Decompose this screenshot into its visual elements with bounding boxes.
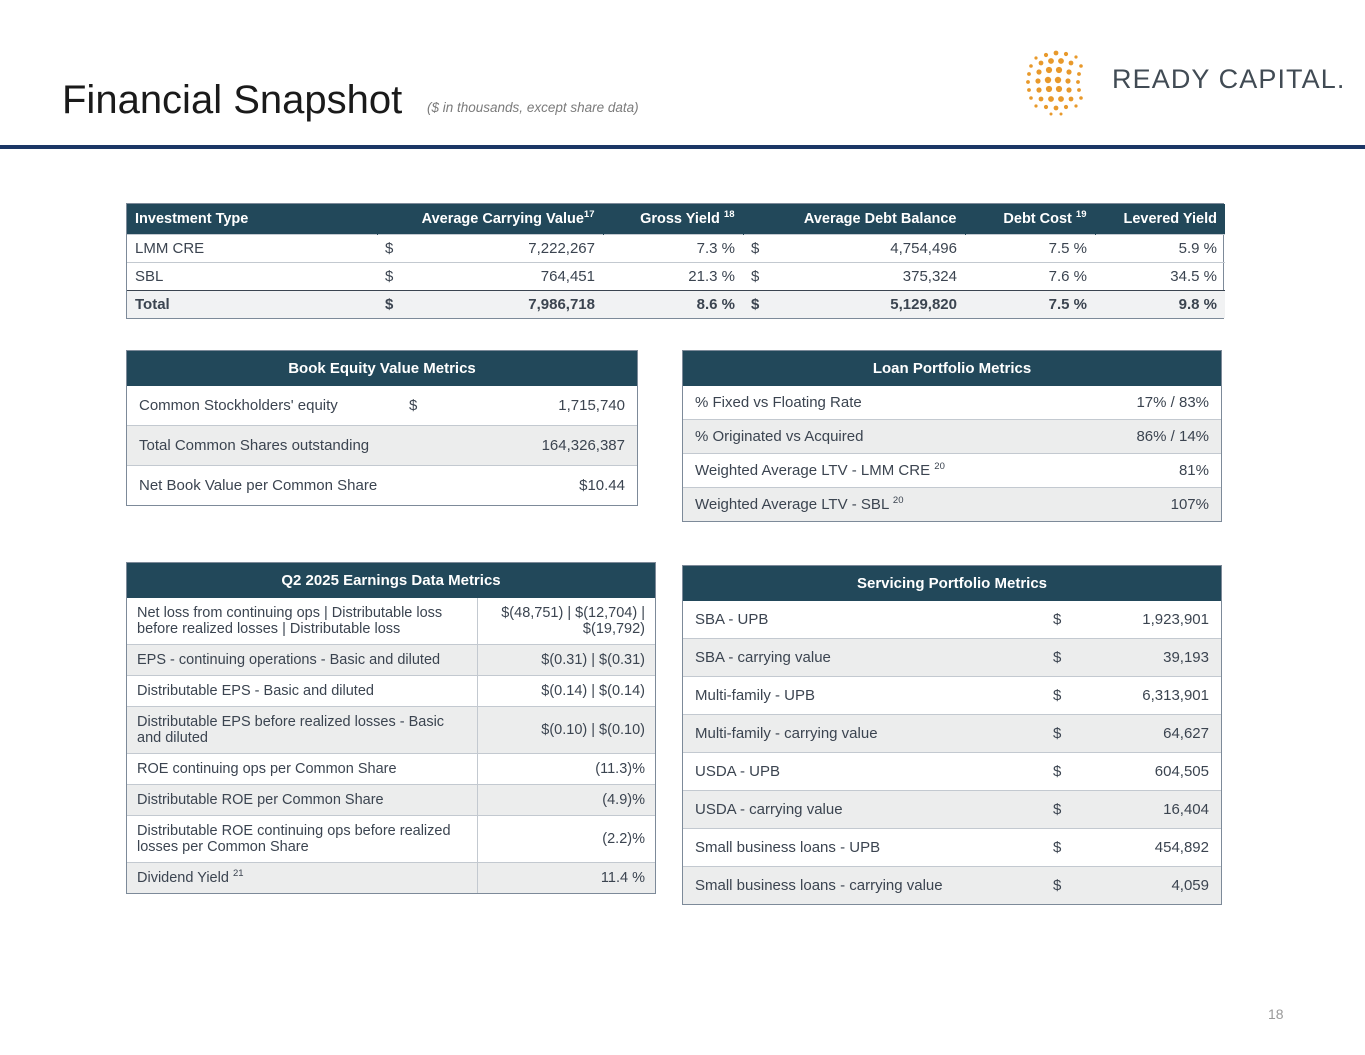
table-row: Multi-family - UPB $ 6,313,901 [683, 677, 1221, 715]
row-currency: $ [1041, 639, 1081, 677]
cell-levered-yield: 5.9 % [1095, 235, 1225, 263]
cell-average-debt-balance: 4,754,496 [769, 235, 965, 263]
cell-average-carrying-value: 7,222,267 [403, 235, 603, 263]
column-header-levered-yield: Levered Yield [1095, 204, 1225, 235]
table-row: Small business loans - carrying value $ … [683, 867, 1221, 905]
column-header-investment-type: Investment Type [127, 204, 377, 235]
table-row: Weighted Average LTV - LMM CRE 20 81% [683, 454, 1221, 488]
row-value: (2.2)% [477, 816, 655, 863]
row-label: Dividend Yield 21 [127, 863, 477, 894]
row-label: Multi-family - carrying value [683, 715, 1041, 753]
servicing-title: Servicing Portfolio Metrics [683, 566, 1221, 601]
table-row: Multi-family - carrying value $ 64,627 [683, 715, 1221, 753]
row-currency: $ [1041, 867, 1081, 905]
table-header-row: Investment Type Average Carrying Value17… [127, 204, 1225, 235]
row-value: 11.4 % [477, 863, 655, 894]
row-label: USDA - UPB [683, 753, 1041, 791]
row-value: 6,313,901 [1081, 677, 1221, 715]
row-label: % Originated vs Acquired [683, 420, 1071, 454]
row-label: Multi-family - UPB [683, 677, 1041, 715]
row-value: $10.44 [437, 466, 637, 506]
loan-portfolio-title: Loan Portfolio Metrics [683, 351, 1221, 386]
row-value: $(0.14) | $(0.14) [477, 676, 655, 707]
header-divider-rule [0, 145, 1365, 149]
row-value: $(48,751) | $(12,704) | $(19,792) [477, 598, 655, 645]
table-row: LMM CRE $ 7,222,267 7.3 % $ 4,754,496 7.… [127, 235, 1225, 263]
footnote-marker-17: 17 [584, 209, 595, 220]
table-row: Dividend Yield 21 11.4 % [127, 863, 655, 894]
row-label: Distributable ROE per Common Share [127, 785, 477, 816]
row-label: ROE continuing ops per Common Share [127, 754, 477, 785]
table-row: Distributable ROE continuing ops before … [127, 816, 655, 863]
column-header-gross-yield: Gross Yield 18 [603, 204, 743, 235]
cell-debt-cost: 7.6 % [965, 263, 1095, 291]
row-currency: $ [1041, 829, 1081, 867]
table-row: % Fixed vs Floating Rate 17% / 83% [683, 386, 1221, 420]
row-currency: $ [1041, 753, 1081, 791]
row-value: 1,715,740 [437, 386, 637, 426]
column-header-average-debt-balance: Average Debt Balance [743, 204, 965, 235]
table-row: Small business loans - UPB $ 454,892 [683, 829, 1221, 867]
table-row: EPS - continuing operations - Basic and … [127, 645, 655, 676]
book-equity-value-metrics-table: Book Equity Value Metrics Common Stockho… [126, 350, 638, 506]
row-value: 16,404 [1081, 791, 1221, 829]
cell-adb-currency: $ [743, 235, 769, 263]
cell-levered-yield: 34.5 % [1095, 263, 1225, 291]
row-currency [397, 466, 437, 506]
table-row: Distributable EPS before realized losses… [127, 707, 655, 754]
table-row: Distributable ROE per Common Share (4.9)… [127, 785, 655, 816]
row-label: Weighted Average LTV - LMM CRE 20 [683, 454, 1071, 488]
footnote-marker-20: 20 [893, 495, 904, 506]
row-currency: $ [1041, 715, 1081, 753]
row-label: Net Book Value per Common Share [127, 466, 397, 506]
row-value: 86% / 14% [1071, 420, 1221, 454]
table-row: USDA - carrying value $ 16,404 [683, 791, 1221, 829]
row-currency: $ [1041, 601, 1081, 639]
row-value: 39,193 [1081, 639, 1221, 677]
table-row: ROE continuing ops per Common Share (11.… [127, 754, 655, 785]
cell-investment-type: Total [127, 291, 377, 319]
row-value: 64,627 [1081, 715, 1221, 753]
table-row: Distributable EPS - Basic and diluted $(… [127, 676, 655, 707]
row-value: $(0.31) | $(0.31) [477, 645, 655, 676]
cell-average-carrying-value: 7,986,718 [403, 291, 603, 319]
row-label: SBA - carrying value [683, 639, 1041, 677]
table-row: % Originated vs Acquired 86% / 14% [683, 420, 1221, 454]
row-label: Distributable ROE continuing ops before … [127, 816, 477, 863]
cell-gross-yield: 7.3 % [603, 235, 743, 263]
row-currency: $ [397, 386, 437, 426]
row-label: Distributable EPS - Basic and diluted [127, 676, 477, 707]
row-label: USDA - carrying value [683, 791, 1041, 829]
cell-average-debt-balance: 375,324 [769, 263, 965, 291]
row-value: (11.3)% [477, 754, 655, 785]
row-value: 164,326,387 [437, 426, 637, 466]
loan-portfolio-metrics-table: Loan Portfolio Metrics % Fixed vs Floati… [682, 350, 1222, 522]
footnote-marker-19: 19 [1076, 209, 1087, 220]
row-label: Small business loans - carrying value [683, 867, 1041, 905]
cell-average-carrying-value: 764,451 [403, 263, 603, 291]
footnote-marker-18: 18 [724, 209, 735, 220]
cell-gross-yield: 8.6 % [603, 291, 743, 319]
table-row: Net loss from continuing ops | Distribut… [127, 598, 655, 645]
row-label: Common Stockholders' equity [127, 386, 397, 426]
table-row: USDA - UPB $ 604,505 [683, 753, 1221, 791]
brand-logo: READY CAPITAL. [1016, 46, 1316, 118]
footnote-marker-20: 20 [934, 461, 945, 472]
row-label: SBA - UPB [683, 601, 1041, 639]
row-value: 81% [1071, 454, 1221, 488]
book-equity-title: Book Equity Value Metrics [127, 351, 637, 386]
cell-acv-currency: $ [377, 291, 403, 319]
table-row: Total Common Shares outstanding 164,326,… [127, 426, 637, 466]
table-row: Common Stockholders' equity $ 1,715,740 [127, 386, 637, 426]
cell-investment-type: LMM CRE [127, 235, 377, 263]
row-value: 107% [1071, 488, 1221, 522]
cell-debt-cost: 7.5 % [965, 235, 1095, 263]
page-title: Financial Snapshot [62, 78, 402, 122]
footnote-marker-21: 21 [233, 868, 244, 879]
investment-type-table: Investment Type Average Carrying Value17… [126, 203, 1224, 319]
page-title-note: ($ in thousands, except share data) [427, 100, 639, 115]
cell-gross-yield: 21.3 % [603, 263, 743, 291]
row-value: 17% / 83% [1071, 386, 1221, 420]
table-row: Weighted Average LTV - SBL 20 107% [683, 488, 1221, 522]
ready-capital-dot-mark-icon [1016, 46, 1106, 118]
cell-investment-type: SBL [127, 263, 377, 291]
row-currency [397, 426, 437, 466]
row-value: (4.9)% [477, 785, 655, 816]
row-value: 4,059 [1081, 867, 1221, 905]
cell-average-debt-balance: 5,129,820 [769, 291, 965, 319]
row-label: EPS - continuing operations - Basic and … [127, 645, 477, 676]
column-header-debt-cost: Debt Cost 19 [965, 204, 1095, 235]
earnings-data-metrics-table: Q2 2025 Earnings Data Metrics Net loss f… [126, 562, 656, 894]
row-currency: $ [1041, 677, 1081, 715]
cell-levered-yield: 9.8 % [1095, 291, 1225, 319]
brand-wordmark: READY CAPITAL. [1112, 64, 1345, 95]
table-row: SBA - carrying value $ 39,193 [683, 639, 1221, 677]
row-label: Distributable EPS before realized losses… [127, 707, 477, 754]
row-currency: $ [1041, 791, 1081, 829]
page-number: 18 [1268, 1006, 1284, 1022]
servicing-portfolio-metrics-table: Servicing Portfolio Metrics SBA - UPB $ … [682, 565, 1222, 905]
table-row-total: Total $ 7,986,718 8.6 % $ 5,129,820 7.5 … [127, 291, 1225, 319]
cell-acv-currency: $ [377, 235, 403, 263]
row-label: Total Common Shares outstanding [127, 426, 397, 466]
cell-adb-currency: $ [743, 263, 769, 291]
row-value: 1,923,901 [1081, 601, 1221, 639]
cell-acv-currency: $ [377, 263, 403, 291]
column-header-average-carrying-value: Average Carrying Value17 [377, 204, 603, 235]
cell-debt-cost: 7.5 % [965, 291, 1095, 319]
row-label: Weighted Average LTV - SBL 20 [683, 488, 1071, 522]
cell-adb-currency: $ [743, 291, 769, 319]
table-row: Net Book Value per Common Share $10.44 [127, 466, 637, 506]
row-value: $(0.10) | $(0.10) [477, 707, 655, 754]
row-value: 604,505 [1081, 753, 1221, 791]
row-label: % Fixed vs Floating Rate [683, 386, 1071, 420]
table-row: SBL $ 764,451 21.3 % $ 375,324 7.6 % 34.… [127, 263, 1225, 291]
row-value: 454,892 [1081, 829, 1221, 867]
table-row: SBA - UPB $ 1,923,901 [683, 601, 1221, 639]
row-label: Net loss from continuing ops | Distribut… [127, 598, 477, 645]
earnings-title: Q2 2025 Earnings Data Metrics [127, 563, 655, 598]
row-label: Small business loans - UPB [683, 829, 1041, 867]
